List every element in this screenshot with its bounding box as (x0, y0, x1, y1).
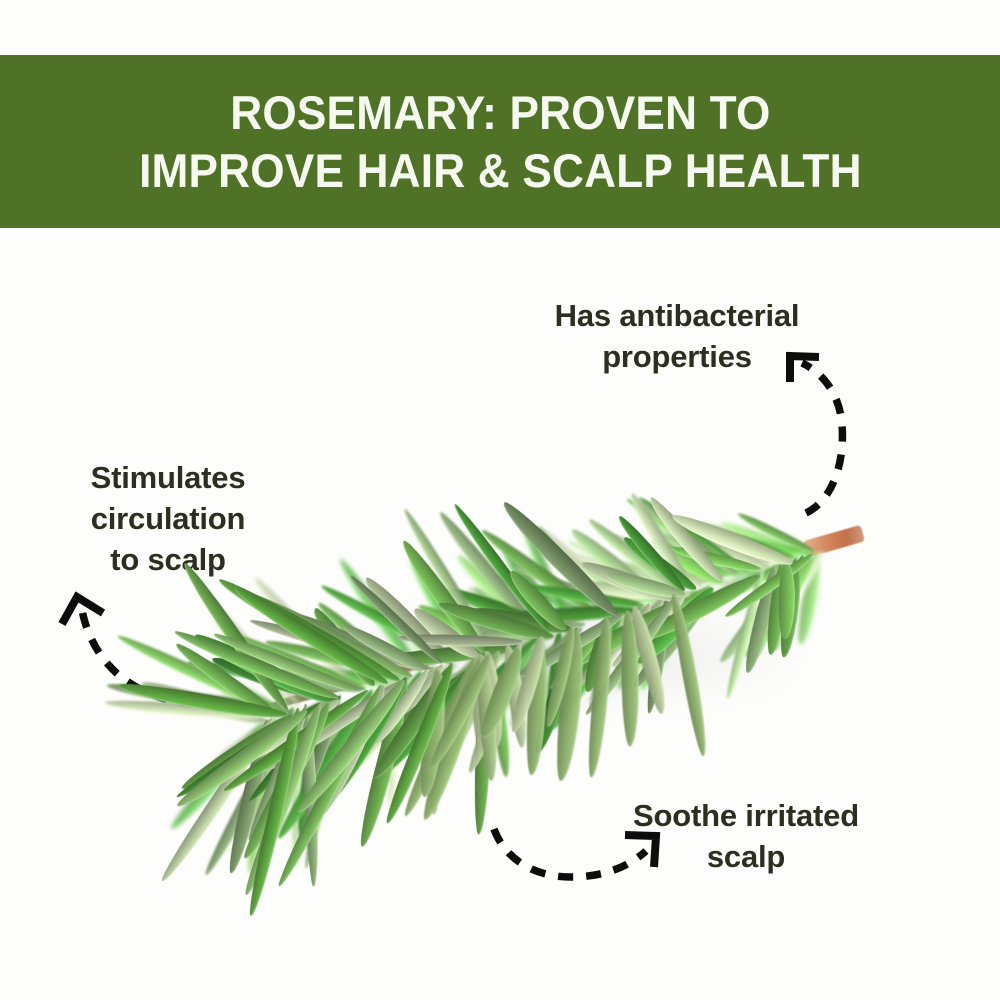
banner-title-line-2: IMPROVE HAIR & SCALP HEALTH (139, 142, 862, 199)
annotation-label-antibacterial: Has antibacterial properties (492, 296, 862, 378)
infographic-poster: ROSEMARY: PROVEN TO IMPROVE HAIR & SCALP… (0, 0, 1000, 1000)
banner-title-line-1: ROSEMARY: PROVEN TO (230, 84, 770, 141)
annotation-label-circulation: Stimulates circulation to scalp (48, 458, 288, 581)
header-banner: ROSEMARY: PROVEN TO IMPROVE HAIR & SCALP… (0, 55, 1000, 228)
annotation-label-soothe: Soothe irritated scalp (588, 796, 904, 878)
